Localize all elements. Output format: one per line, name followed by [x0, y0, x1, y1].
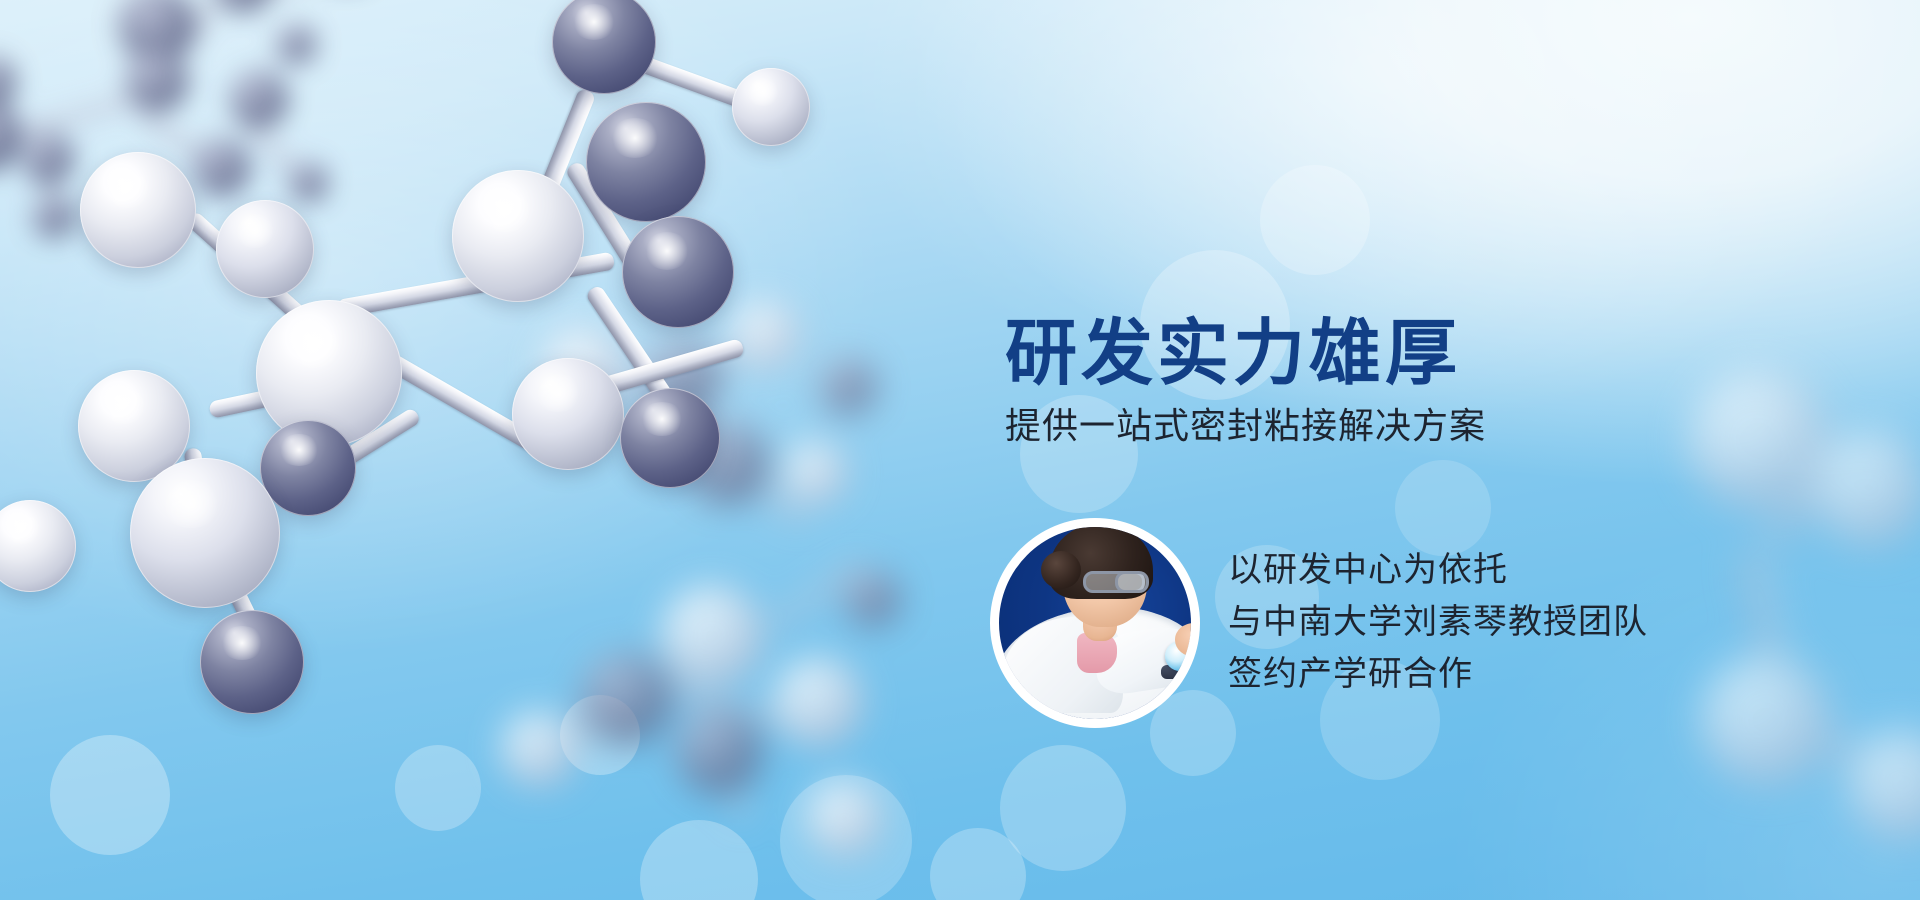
bokeh-circle — [1260, 165, 1370, 275]
hero-banner: 研发实力雄厚 提供一站式密封粘接解决方案 以研发中 — [0, 0, 1920, 900]
molecule-atom-dark — [200, 610, 304, 714]
list-item: 与中南大学刘素琴教授团队 — [1228, 597, 1648, 649]
molecule-atom-white — [0, 500, 76, 592]
avatar — [990, 518, 1200, 728]
blurred-molecule-bottom-right — [1640, 400, 1920, 900]
blurred-atom — [1812, 430, 1920, 546]
page-subtitle: 提供一站式密封粘接解决方案 — [1005, 406, 1625, 446]
molecule-atom-dark — [620, 388, 720, 488]
foreground-molecule-model — [0, 0, 860, 770]
molecule-atom-white — [80, 152, 196, 268]
avatar-backdrop — [999, 527, 1191, 719]
page-title: 研发实力雄厚 — [1005, 318, 1625, 390]
molecule-atom-silver — [216, 200, 314, 298]
bokeh-circle — [1000, 745, 1126, 871]
molecule-atom-dark — [552, 0, 656, 94]
blurred-atom — [806, 780, 884, 858]
hair-bun-shape — [1041, 551, 1081, 589]
molecule-atom-silver — [130, 458, 280, 608]
molecule-atom-dark — [586, 102, 706, 222]
molecule-atom-silver — [732, 68, 810, 146]
blurred-atom — [1688, 370, 1828, 510]
list-item: 以研发中心为依托 — [1228, 545, 1648, 597]
headline-block: 研发实力雄厚 提供一站式密封粘接解决方案 — [1005, 318, 1625, 446]
molecule-atom-white — [452, 170, 584, 302]
blurred-atom — [1700, 655, 1830, 785]
list-item: 签约产学研合作 — [1228, 649, 1648, 701]
molecule-atom-dark — [622, 216, 734, 328]
credentials-block: 以研发中心为依托 与中南大学刘素琴教授团队 签约产学研合作 — [990, 518, 1648, 728]
credential-list: 以研发中心为依托 与中南大学刘素琴教授团队 签约产学研合作 — [1228, 545, 1648, 700]
glasses-right-lens — [1115, 571, 1149, 593]
molecule-atom-dark — [260, 420, 356, 516]
molecule-atom-silver — [512, 358, 624, 470]
